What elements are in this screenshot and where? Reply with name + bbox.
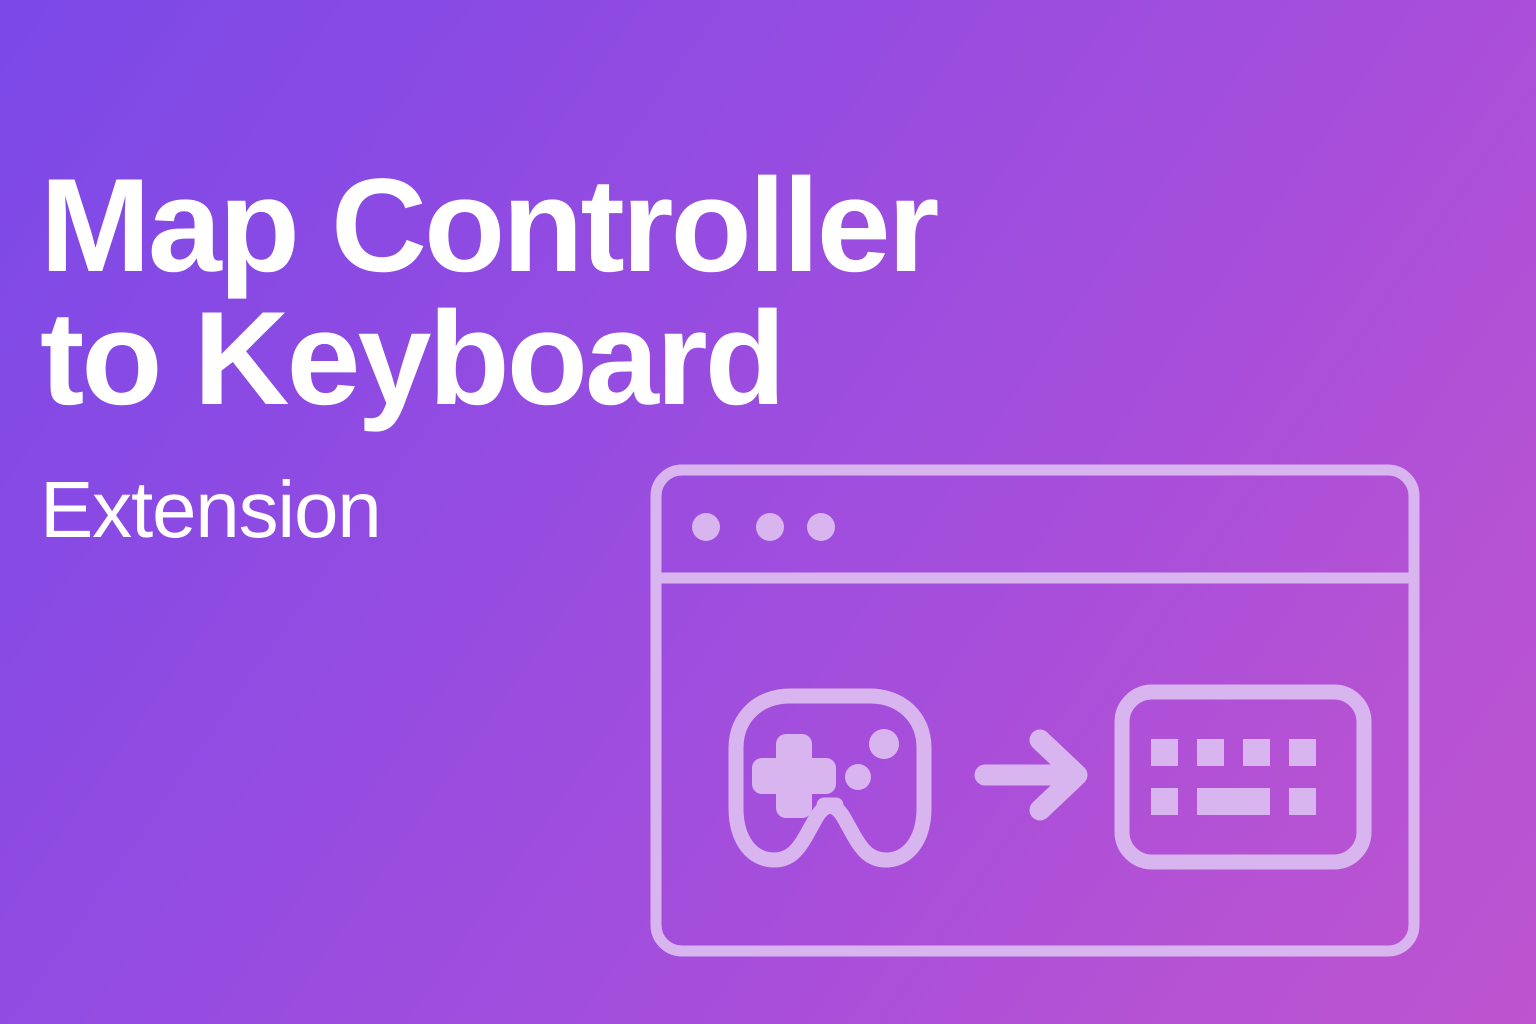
keyboard-key bbox=[1289, 788, 1316, 815]
keyboard-key bbox=[1151, 788, 1178, 815]
gamepad-button-bottom bbox=[845, 764, 871, 790]
keyboard-icon bbox=[1122, 692, 1364, 862]
window-dot-yellow[interactable] bbox=[756, 513, 784, 541]
page-title: Map Controller to Keyboard bbox=[40, 160, 1000, 426]
browser-window-frame bbox=[656, 470, 1414, 951]
hero-illustration bbox=[640, 452, 1430, 967]
window-dot-red[interactable] bbox=[692, 513, 720, 541]
keyboard-key bbox=[1243, 739, 1270, 766]
keyboard-key-spacebar bbox=[1197, 788, 1270, 815]
keyboard-body bbox=[1122, 692, 1364, 862]
gamepad-button-top bbox=[869, 729, 899, 759]
keyboard-key bbox=[1289, 739, 1316, 766]
keyboard-key bbox=[1197, 739, 1224, 766]
arrow-right-icon bbox=[985, 740, 1077, 810]
window-dot-green[interactable] bbox=[807, 513, 835, 541]
gamepad-icon bbox=[736, 696, 924, 860]
poster-canvas: Map Controller to Keyboard Extension bbox=[0, 0, 1536, 1024]
browser-window-illustration bbox=[640, 452, 1430, 967]
keyboard-key bbox=[1151, 739, 1178, 766]
